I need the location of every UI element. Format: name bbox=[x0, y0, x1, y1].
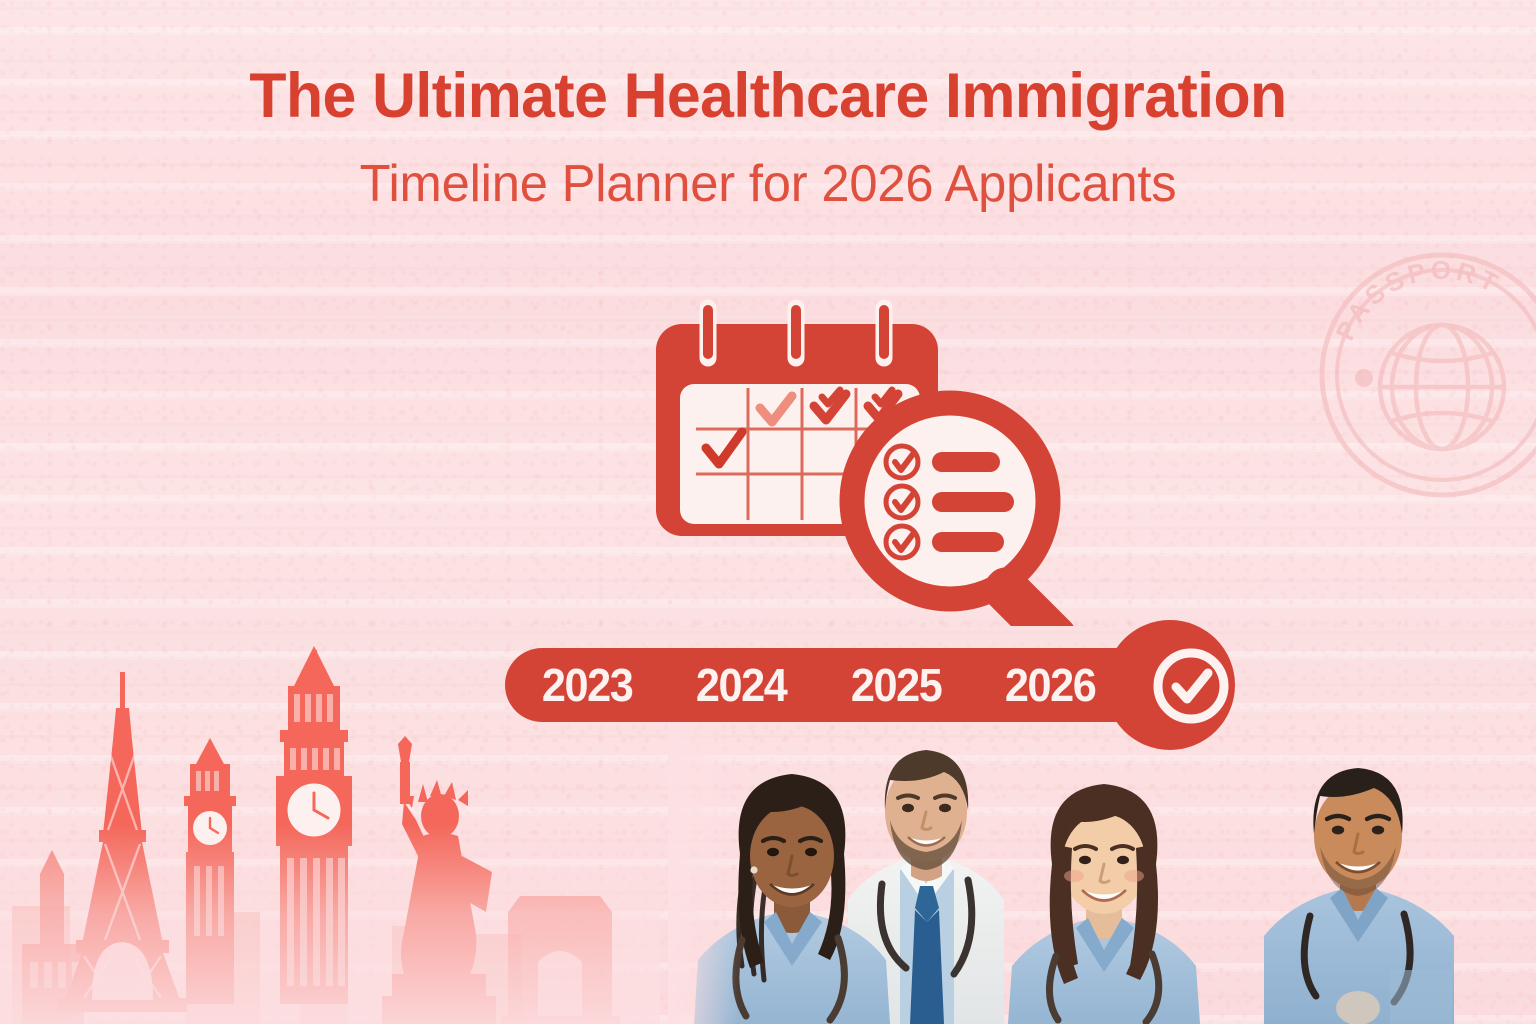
statue-of-liberty-silhouette bbox=[382, 736, 496, 1024]
big-ben-silhouette bbox=[276, 646, 352, 1004]
heading-block: The Ultimate Healthcare Immigration Time… bbox=[0, 62, 1536, 213]
passport-stamp-icon: PASSPORT bbox=[1312, 245, 1536, 505]
magnifier-checklist-icon bbox=[852, 403, 1086, 626]
passport-stamp-label: PASSPORT bbox=[1330, 255, 1506, 345]
city-buildings-silhouette bbox=[12, 899, 522, 1024]
timeline-progress-bar[interactable]: 2023 2024 2025 2026 bbox=[505, 620, 1235, 750]
check-circle-icon bbox=[1150, 645, 1232, 727]
clock-tower-silhouette bbox=[184, 738, 236, 1004]
poster-canvas: PASSPORT The Ultimate Healthcare Immigra… bbox=[0, 0, 1536, 1024]
page-subtitle: Timeline Planner for 2026 Applicants bbox=[19, 156, 1517, 213]
person-nurse-left bbox=[694, 774, 890, 1024]
church-tower-silhouette bbox=[22, 850, 84, 1024]
timeline-year-2026[interactable]: 2026 bbox=[1005, 658, 1096, 712]
person-nurse-center-right bbox=[1008, 784, 1200, 1024]
checklist-rows bbox=[886, 446, 1014, 558]
arc-de-triomphe-silhouette bbox=[502, 896, 620, 1024]
timeline-year-2023[interactable]: 2023 bbox=[542, 658, 633, 712]
healthcare-workers-photo bbox=[668, 724, 1536, 1024]
calendar-magnifier-icon-group bbox=[650, 296, 1120, 626]
timeline-year-2024[interactable]: 2024 bbox=[696, 658, 787, 712]
timeline-year-list: 2023 2024 2025 2026 bbox=[539, 648, 1159, 722]
svg-text:PASSPORT: PASSPORT bbox=[1330, 255, 1506, 345]
timeline-year-2025[interactable]: 2025 bbox=[851, 658, 942, 712]
eiffel-tower-silhouette bbox=[58, 672, 187, 1012]
person-nurse-right bbox=[1264, 768, 1454, 1024]
photo-left-fade bbox=[668, 724, 738, 1024]
skyline-bottom-fade bbox=[0, 824, 660, 1024]
page-title: The Ultimate Healthcare Immigration bbox=[27, 62, 1509, 130]
person-doctor bbox=[848, 750, 1004, 1024]
